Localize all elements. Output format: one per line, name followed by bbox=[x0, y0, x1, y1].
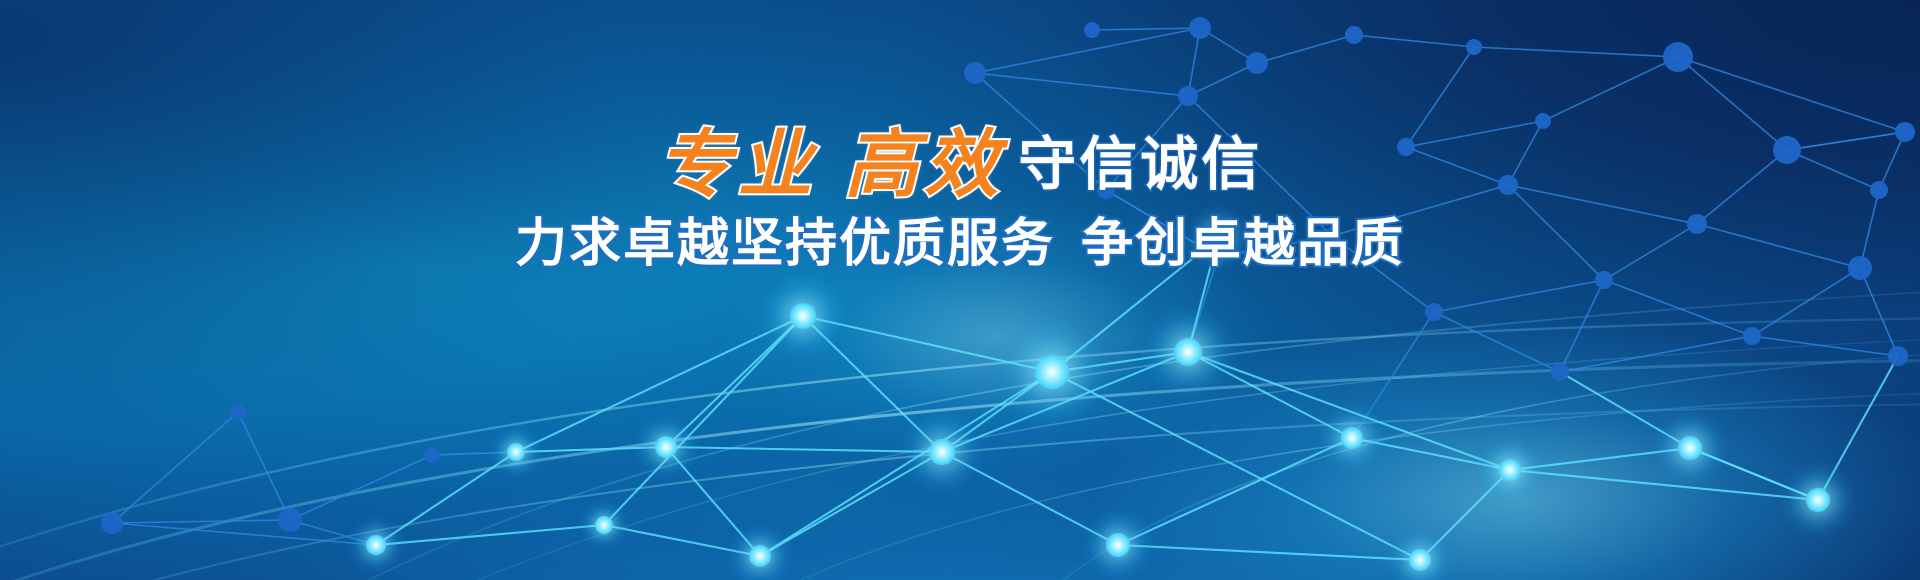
network-edges-dark bbox=[112, 28, 1905, 545]
network-nodes-dark bbox=[101, 17, 1915, 534]
network-node-glows bbox=[346, 204, 1858, 580]
network-graphic bbox=[0, 0, 1920, 580]
hero-banner: 专业 高效守信诚信 力求卓越坚持优质服务争创卓越品质 bbox=[0, 0, 1920, 580]
